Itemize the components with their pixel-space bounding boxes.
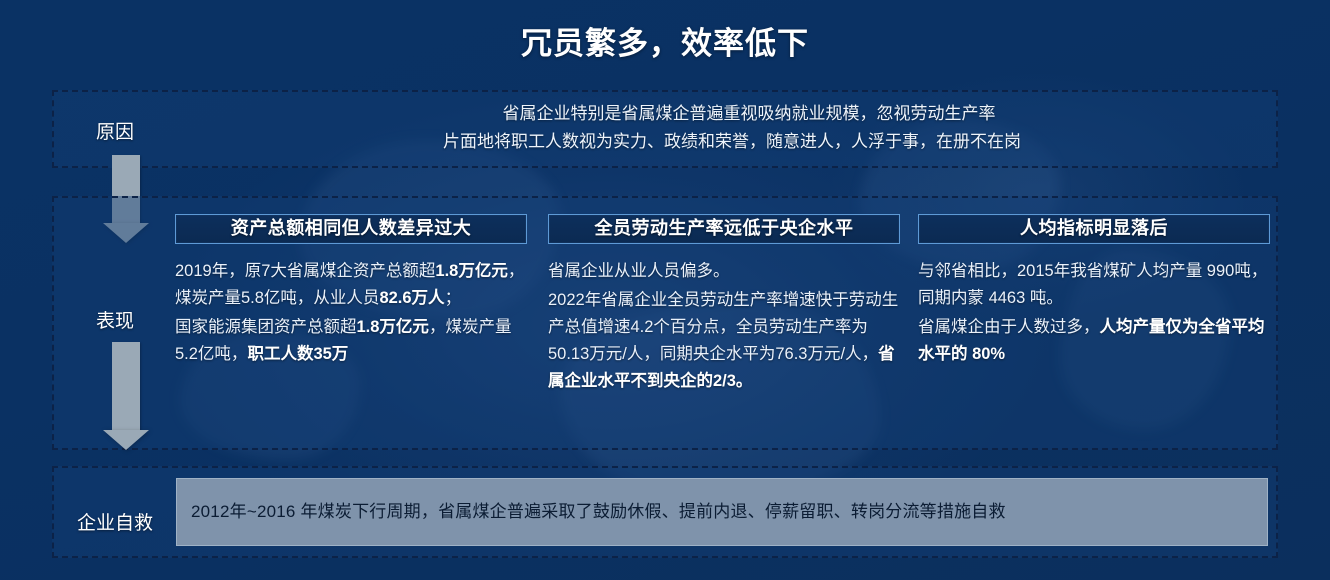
column-1-paragraph-1: 2019年，原7大省属煤企资产总额超1.8万亿元，煤炭产量5.8亿吨，从业人员8… [175, 258, 527, 312]
column-header-2: 全员劳动生产率远低于央企水平 [548, 214, 900, 244]
manifestation-column-3: 人均指标明显落后 与邻省相比，2015年我省煤矿人均产量 990吨，同期内蒙 4… [918, 214, 1270, 370]
column-body-1: 2019年，原7大省属煤企资产总额超1.8万亿元，煤炭产量5.8亿吨，从业人员8… [175, 258, 527, 368]
column-body-2: 省属企业从业人员偏多。 2022年省属企业全员劳动生产率增速快于劳动生产总值增速… [548, 258, 900, 395]
page-title: 冗员繁多，效率低下 [0, 18, 1330, 63]
column-3-paragraph-2: 省属煤企由于人数过多，人均产量仅为全省平均水平的 80% [918, 314, 1270, 368]
cause-line-1: 省属企业特别是省属煤企普遍重视吸纳就业规模，忽视劳动生产率 [196, 100, 1268, 128]
column-header-3: 人均指标明显落后 [918, 214, 1270, 244]
column-1-paragraph-2: 国家能源集团资产总额超1.8万亿元，煤炭产量5.2亿吨，职工人数35万 [175, 314, 527, 368]
arrow-shaft [112, 342, 140, 430]
self-rescue-bar: 2012年~2016 年煤炭下行周期，省属煤企普遍采取了鼓励休假、提前内退、停薪… [176, 478, 1268, 546]
cause-text: 省属企业特别是省属煤企普遍重视吸纳就业规模，忽视劳动生产率 片面地将职工人数视为… [196, 100, 1268, 156]
self-rescue-text: 2012年~2016 年煤炭下行周期，省属煤企普遍采取了鼓励休假、提前内退、停薪… [177, 500, 1020, 524]
column-2-paragraph-2: 2022年省属企业全员劳动生产率增速快于劳动生产总值增速4.2个百分点，全员劳动… [548, 287, 900, 395]
slide-canvas: 冗员繁多，效率低下 原因 省属企业特别是省属煤企普遍重视吸纳就业规模，忽视劳动生… [0, 0, 1330, 580]
cause-line-2: 片面地将职工人数视为实力、政绩和荣誉，随意进人，人浮于事，在册不在岗 [196, 128, 1268, 156]
column-body-3: 与邻省相比，2015年我省煤矿人均产量 990吨，同期内蒙 4463 吨。 省属… [918, 258, 1270, 368]
column-3-paragraph-1: 与邻省相比，2015年我省煤矿人均产量 990吨，同期内蒙 4463 吨。 [918, 258, 1270, 312]
down-arrow-icon [103, 342, 149, 450]
row-label-cause: 原因 [52, 117, 178, 144]
manifestation-column-1: 资产总额相同但人数差异过大 2019年，原7大省属煤企资产总额超1.8万亿元，煤… [175, 214, 527, 370]
arrow-head [103, 430, 149, 450]
column-2-paragraph-1: 省属企业从业人员偏多。 [548, 258, 900, 285]
column-header-1: 资产总额相同但人数差异过大 [175, 214, 527, 244]
row-label-self-rescue: 企业自救 [52, 508, 178, 535]
row-label-manifestation: 表现 [52, 306, 178, 333]
manifestation-column-2: 全员劳动生产率远低于央企水平 省属企业从业人员偏多。 2022年省属企业全员劳动… [548, 214, 900, 397]
